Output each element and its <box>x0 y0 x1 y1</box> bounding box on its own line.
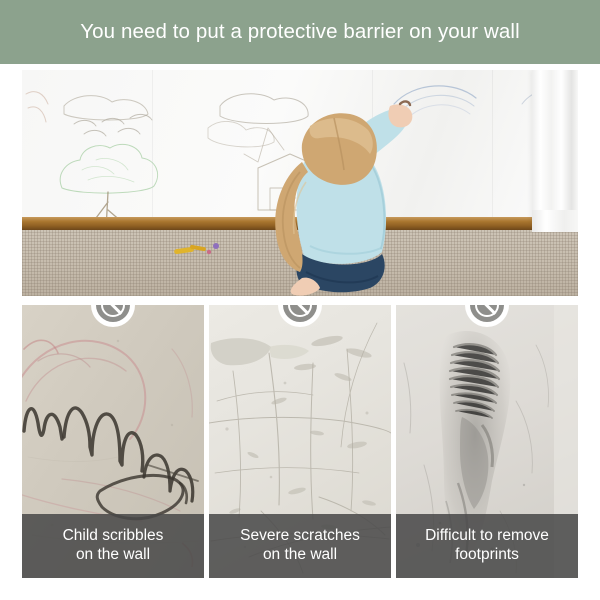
caption-line-1: Child scribbles <box>63 527 164 546</box>
panel-child-scribbles[interactable]: Child scribbles on the wall <box>22 305 204 578</box>
prohibition-icon-disc <box>283 305 317 322</box>
child-figure <box>250 96 420 296</box>
crayons-on-floor <box>172 240 232 260</box>
panel-caption: Child scribbles on the wall <box>22 514 204 578</box>
page-title: You need to put a protective barrier on … <box>80 20 519 44</box>
panel-footprints[interactable]: Difficult to remove footprints <box>396 305 578 578</box>
caption-line-2: on the wall <box>76 546 150 565</box>
caption-line-1: Severe scratches <box>240 527 360 546</box>
prohibition-icon-disc <box>96 305 130 322</box>
header-banner: You need to put a protective barrier on … <box>0 0 600 64</box>
problem-panel-row: Child scribbles on the wall <box>22 305 578 578</box>
prohibition-icon-disc <box>470 305 504 322</box>
door-frame <box>532 70 578 222</box>
hero-photo <box>22 70 578 296</box>
panel-severe-scratches[interactable]: Severe scratches on the wall <box>209 305 391 578</box>
caption-line-2: on the wall <box>263 546 337 565</box>
panel-caption: Difficult to remove footprints <box>396 514 578 578</box>
caption-line-1: Difficult to remove <box>425 527 549 546</box>
promo-infographic: You need to put a protective barrier on … <box>0 0 600 600</box>
panel-caption: Severe scratches on the wall <box>209 514 391 578</box>
door-frame-base <box>532 210 578 232</box>
caption-line-2: footprints <box>455 546 519 565</box>
